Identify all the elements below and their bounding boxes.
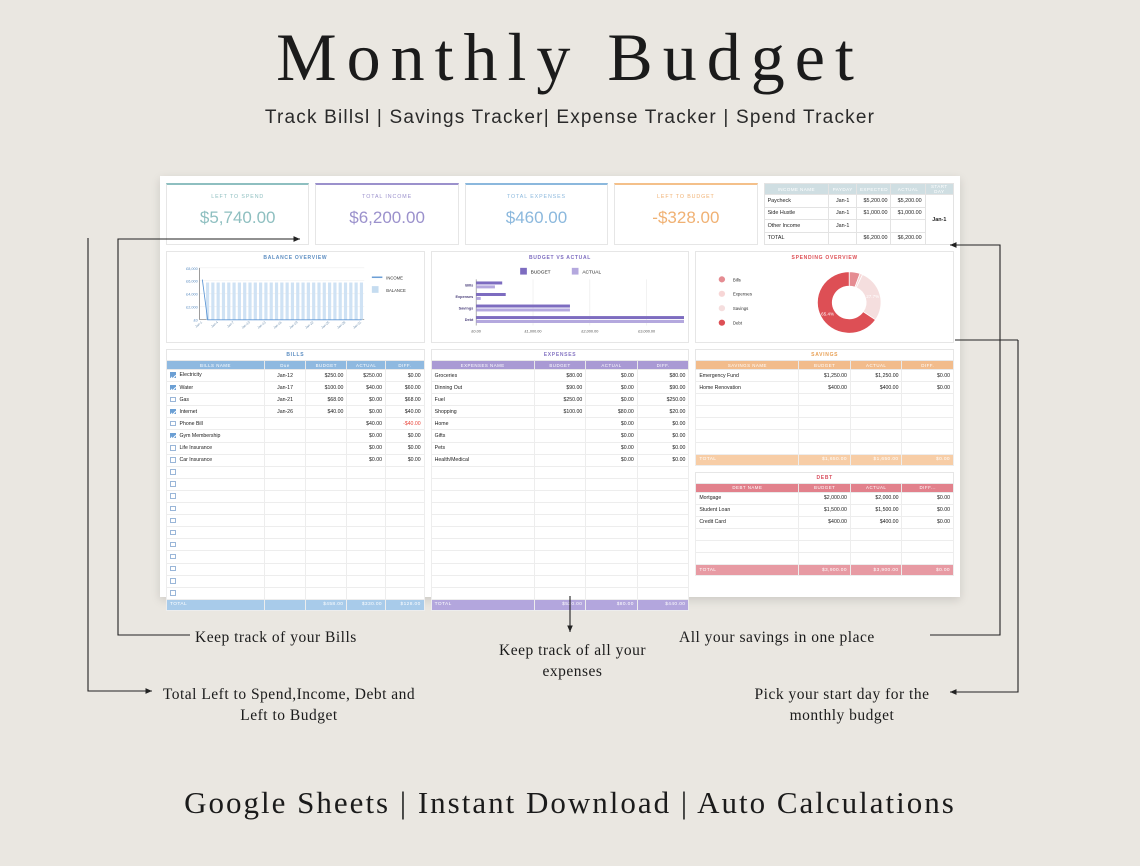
row-due: Jan-21 (264, 394, 305, 406)
debt-table[interactable]: DEBTDEBT NAMEBUDGETACTUALDIFF...Mortgage… (695, 472, 954, 577)
spending-overview-chart[interactable]: SPENDING OVERVIEW 27.7%65.4%BillsExpense… (695, 251, 954, 343)
svg-text:Jan-16: Jan-16 (272, 320, 282, 330)
page-header: Monthly Budget Track Billsl | Savings Tr… (0, 0, 1140, 129)
budget-vs-actual-chart[interactable]: BUDGET VS ACTUAL £0.00£1,000.00£2,000.00… (431, 251, 690, 343)
total-budget: $3,900.00 (799, 565, 851, 576)
kpi-label: LEFT TO BUDGET (615, 194, 756, 200)
row-budget: $250.00 (306, 370, 347, 382)
row-name (696, 541, 799, 553)
row-budget: $68.00 (306, 394, 347, 406)
income-actual (891, 220, 925, 232)
income-row[interactable]: PaycheckJan-1$5,200.00$5,200.00Jan-1 (764, 195, 953, 207)
income-payday (828, 232, 856, 244)
row-due (264, 418, 305, 430)
row-budget (534, 454, 586, 466)
row-name (696, 442, 799, 454)
column-header: ACTUAL (586, 361, 638, 370)
income-col-header: START DAY (925, 184, 953, 195)
table-row[interactable]: Groceries$80.00$0.00$80.00 (431, 370, 689, 382)
row-budget: $100.00 (534, 406, 586, 418)
total-actual: $80.00 (586, 599, 638, 610)
table-row-empty[interactable] (167, 527, 425, 539)
row-name[interactable]: Life Insurance (167, 442, 265, 454)
row-name[interactable] (167, 527, 265, 539)
row-actual: $0.00 (586, 454, 638, 466)
income-col-header: EXPECTED (857, 184, 891, 195)
row-checkbox[interactable] (170, 530, 176, 536)
svg-text:Jan-22: Jan-22 (304, 320, 314, 330)
income-actual: $6,200.00 (891, 232, 925, 244)
table-row-empty[interactable] (167, 539, 425, 551)
row-name: Credit Card (696, 516, 799, 528)
row-checkbox[interactable] (170, 566, 176, 572)
tables-row: BILLSBILLS NAMEDueBUDGETACTUALDIFF.Elect… (166, 349, 954, 611)
row-actual: $80.00 (586, 406, 638, 418)
table-caption: EXPENSES (431, 349, 690, 360)
svg-text:Bills: Bills (465, 284, 473, 288)
table-row-empty[interactable] (431, 575, 689, 587)
svg-text:£4,000: £4,000 (186, 293, 198, 297)
table-row-empty[interactable] (696, 541, 954, 553)
row-budget (534, 418, 586, 430)
row-name (696, 394, 799, 406)
row-name (696, 406, 799, 418)
income-expected: $1,000.00 (857, 207, 891, 219)
table-row[interactable]: Shopping$100.00$80.00$20.00 (431, 406, 689, 418)
row-budget: $1,250.00 (799, 370, 851, 382)
row-checkbox[interactable] (170, 493, 176, 499)
table-row[interactable]: Pets$0.00$0.00 (431, 442, 689, 454)
row-actual: $0.00 (586, 394, 638, 406)
kpi-card-left-to-spend[interactable]: LEFT TO SPEND $5,740.00 (166, 183, 309, 245)
row-name[interactable] (167, 587, 265, 599)
row-name[interactable]: Gas (167, 394, 265, 406)
row-diff: $68.00 (386, 394, 425, 406)
row-name[interactable] (167, 563, 265, 575)
svg-text:£0.00: £0.00 (471, 329, 481, 333)
row-budget: $100.00 (306, 382, 347, 394)
callout-startday: Pick your start day for the monthly budg… (752, 685, 932, 727)
balance-overview-chart[interactable]: BALANCE OVERVIEW £0£2,000£4,000£6,000£8,… (166, 251, 425, 343)
row-budget (306, 418, 347, 430)
row-budget (306, 430, 347, 442)
svg-text:Jan-19: Jan-19 (288, 320, 298, 330)
row-actual: $0.00 (586, 382, 638, 394)
row-checkbox[interactable] (170, 397, 176, 403)
svg-text:Jan-10: Jan-10 (241, 320, 251, 330)
table-row-empty[interactable] (167, 515, 425, 527)
table-row[interactable]: WaterJan-17$100.00$40.00$60.00 (167, 382, 425, 394)
income-col-header: PAYDAY (828, 184, 856, 195)
row-checkbox[interactable] (170, 372, 176, 378)
income-payday: Jan-1 (828, 195, 856, 207)
svg-text:Jan-31: Jan-31 (352, 320, 362, 330)
income-name: Other Income (764, 220, 828, 232)
row-checkbox[interactable] (170, 554, 176, 560)
table-row[interactable]: Emergency Fund$1,250.00$1,250.00$0.00 (696, 370, 954, 382)
row-diff: $0.00 (902, 492, 954, 504)
table-row[interactable]: Phone Bill$40.00-$40.00 (167, 418, 425, 430)
table-row[interactable]: Home Renovation$400.00$400.00$0.00 (696, 382, 954, 394)
kpi-value: $5,740.00 (167, 208, 308, 228)
row-checkbox[interactable] (170, 421, 176, 427)
table-row[interactable]: Home$0.00$0.00 (431, 418, 689, 430)
row-name (431, 478, 534, 490)
svg-text:BALANCE: BALANCE (386, 288, 406, 293)
svg-text:Jan-7: Jan-7 (226, 320, 235, 328)
row-due: Jan-12 (264, 370, 305, 382)
table-row-empty[interactable] (431, 587, 689, 599)
row-budget: $2,000.00 (799, 492, 851, 504)
svg-text:Savings: Savings (733, 306, 749, 311)
table-row-empty[interactable] (431, 490, 689, 502)
income-actual: $5,200.00 (891, 195, 925, 207)
column-header: SAVINGS NAME (696, 361, 799, 370)
table-row-empty[interactable] (696, 553, 954, 565)
row-diff: $20.00 (637, 406, 689, 418)
row-name (431, 587, 534, 599)
row-name[interactable] (167, 515, 265, 527)
row-checkbox[interactable] (170, 578, 176, 584)
row-checkbox[interactable] (170, 385, 176, 391)
svg-text:ACTUAL: ACTUAL (582, 270, 601, 276)
callout-totals: Total Left to Spend,Income, Debt and Lef… (158, 685, 420, 727)
row-name: Fuel (431, 394, 534, 406)
column-header: BUDGET (534, 361, 586, 370)
row-diff: $0.00 (902, 516, 954, 528)
row-name: Home (431, 418, 534, 430)
page-subtitle: Track Billsl | Savings Tracker| Expense … (0, 107, 1140, 129)
row-diff: $0.00 (902, 504, 954, 516)
row-diff: $0.00 (386, 370, 425, 382)
income-expected: $6,200.00 (857, 232, 891, 244)
row-checkbox[interactable] (170, 542, 176, 548)
row-due: Jan-26 (264, 406, 305, 418)
svg-text:BUDGET: BUDGET (530, 270, 550, 276)
kpi-row: LEFT TO SPEND $5,740.00 TOTAL INCOME $6,… (166, 183, 954, 245)
table-row-empty[interactable] (167, 563, 425, 575)
kpi-card-total-expenses[interactable]: TOTAL EXPENSES $460.00 (465, 183, 608, 245)
row-checkbox[interactable] (170, 590, 176, 596)
start-day-cell[interactable]: Jan-1 (925, 195, 953, 245)
total-label: TOTAL (696, 454, 799, 465)
row-name: Dinning Out (431, 382, 534, 394)
row-name (431, 551, 534, 563)
row-name (431, 575, 534, 587)
row-budget: $250.00 (534, 394, 586, 406)
kpi-value: $460.00 (466, 208, 607, 228)
row-name (431, 503, 534, 515)
kpi-card-left-to-budget[interactable]: LEFT TO BUDGET -$328.00 (614, 183, 757, 245)
table-row-empty[interactable] (696, 418, 954, 430)
row-diff: $0.00 (386, 442, 425, 454)
kpi-value: -$328.00 (615, 208, 756, 228)
table-row[interactable]: Gym Membership$0.00$0.00 (167, 430, 425, 442)
row-diff: $0.00 (637, 418, 689, 430)
svg-text:Bills: Bills (733, 277, 741, 282)
total-diff: $0.00 (902, 565, 954, 576)
column-header: BUDGET (799, 361, 851, 370)
kpi-label: TOTAL INCOME (316, 194, 457, 200)
row-name[interactable]: Water (167, 382, 265, 394)
column-header: BUDGET (799, 483, 851, 492)
kpi-card-total-income[interactable]: TOTAL INCOME $6,200.00 (315, 183, 458, 245)
svg-text:Expenses: Expenses (455, 295, 473, 299)
table-row-empty[interactable] (167, 490, 425, 502)
table-total-row: TOTAL$1,650.00$1,650.00$0.00 (696, 454, 954, 465)
row-name: Home Renovation (696, 382, 799, 394)
table-row-empty[interactable] (167, 466, 425, 478)
income-table[interactable]: INCOME NAMEPAYDAYEXPECTEDACTUALSTART DAY… (764, 183, 954, 245)
row-name[interactable]: Internet (167, 406, 265, 418)
row-due: Jan-17 (264, 382, 305, 394)
table-row[interactable]: Car Insurance$0.00$0.00 (167, 454, 425, 466)
table-row[interactable]: Student Loan$1,500.00$1,500.00$0.00 (696, 504, 954, 516)
column-header: Due (264, 361, 305, 370)
row-diff: $250.00 (637, 394, 689, 406)
column-header: ACTUAL (347, 361, 386, 370)
total-label: TOTAL (431, 599, 534, 610)
table-row[interactable]: Fuel$250.00$0.00$250.00 (431, 394, 689, 406)
row-name: Gifts (431, 430, 534, 442)
chart-title: BALANCE OVERVIEW (167, 255, 424, 261)
table-row-empty[interactable] (431, 515, 689, 527)
column-header: DIFF. (386, 361, 425, 370)
row-actual: $400.00 (850, 516, 902, 528)
row-actual: $0.00 (347, 406, 386, 418)
svg-text:Jan-25: Jan-25 (320, 320, 330, 330)
table-row-empty[interactable] (696, 528, 954, 540)
table-row[interactable]: Credit Card$400.00$400.00$0.00 (696, 516, 954, 528)
table-caption: DEBT (695, 472, 954, 483)
table-row-empty[interactable] (431, 539, 689, 551)
row-diff: $90.00 (637, 382, 689, 394)
callout-savings: All your savings in one place (679, 628, 875, 649)
callout-line-totals-v (88, 238, 150, 691)
svg-text:Debt: Debt (464, 318, 473, 322)
table-row-empty[interactable] (167, 551, 425, 563)
row-actual: $0.00 (586, 370, 638, 382)
table-row[interactable]: Gifts$0.00$0.00 (431, 430, 689, 442)
row-actual: $40.00 (347, 382, 386, 394)
svg-text:£2,000.00: £2,000.00 (581, 329, 598, 333)
column-header: EXPENSES NAME (431, 361, 534, 370)
row-diff: $0.00 (902, 370, 954, 382)
row-actual: $40.00 (347, 418, 386, 430)
callout-expenses: Keep track of all your expenses (485, 641, 660, 683)
svg-text:Jan-28: Jan-28 (336, 320, 346, 330)
table-row-empty[interactable] (431, 466, 689, 478)
row-actual: $0.00 (586, 430, 638, 442)
page-footer: Google Sheets | Instant Download | Auto … (0, 785, 1140, 821)
total-budget: $1,650.00 (799, 454, 851, 465)
row-name[interactable]: Gym Membership (167, 430, 265, 442)
row-actual: $0.00 (347, 442, 386, 454)
row-checkbox[interactable] (170, 469, 176, 475)
table-row-empty[interactable] (696, 442, 954, 454)
row-name (696, 528, 799, 540)
row-actual: $0.00 (586, 418, 638, 430)
column-header: ACTUAL (850, 483, 902, 492)
row-name[interactable] (167, 503, 265, 515)
row-checkbox[interactable] (170, 518, 176, 524)
kpi-value: $6,200.00 (316, 208, 457, 228)
total-budget: $458.00 (306, 599, 347, 610)
svg-text:27.7%: 27.7% (867, 294, 880, 299)
row-name[interactable] (167, 551, 265, 563)
expenses-table[interactable]: EXPENSESEXPENSES NAMEBUDGETACTUALDIFF.Gr… (431, 349, 690, 611)
row-budget: $40.00 (306, 406, 347, 418)
total-diff: $128.00 (386, 599, 425, 610)
total-label: TOTAL (696, 565, 799, 576)
table-row-empty[interactable] (696, 406, 954, 418)
row-name: Mortgage (696, 492, 799, 504)
kpi-label: TOTAL EXPENSES (466, 194, 607, 200)
total-actual: $1,650.00 (850, 454, 902, 465)
row-diff: -$40.00 (386, 418, 425, 430)
table-row[interactable]: Mortgage$2,000.00$2,000.00$0.00 (696, 492, 954, 504)
kpi-label: LEFT TO SPEND (167, 194, 308, 200)
row-actual: $2,000.00 (850, 492, 902, 504)
row-name (696, 553, 799, 565)
chart-title: BUDGET VS ACTUAL (432, 255, 689, 261)
table-row-empty[interactable] (167, 587, 425, 599)
table-caption: BILLS (166, 349, 425, 360)
row-name (431, 563, 534, 575)
bills-table[interactable]: BILLSBILLS NAMEDueBUDGETACTUALDIFF.Elect… (166, 349, 425, 611)
row-name (431, 539, 534, 551)
row-checkbox[interactable] (170, 433, 176, 439)
table-row[interactable]: InternetJan-26$40.00$0.00$40.00 (167, 406, 425, 418)
table-caption: SAVINGS (695, 349, 954, 360)
total-label: TOTAL (167, 599, 265, 610)
table-row-empty[interactable] (431, 527, 689, 539)
column-header: DEBT NAME (696, 483, 799, 492)
row-diff: $40.00 (386, 406, 425, 418)
row-budget: $400.00 (799, 382, 851, 394)
income-payday: Jan-1 (828, 207, 856, 219)
total-actual: $3,900.00 (850, 565, 902, 576)
row-diff: $0.00 (902, 382, 954, 394)
total-diff: $0.00 (902, 454, 954, 465)
income-expected: $5,200.00 (857, 195, 891, 207)
svg-text:Jan-13: Jan-13 (257, 320, 267, 330)
row-name[interactable] (167, 466, 265, 478)
row-name: Student Loan (696, 504, 799, 516)
table-row-empty[interactable] (431, 478, 689, 490)
row-name[interactable] (167, 478, 265, 490)
row-name[interactable]: Phone Bill (167, 418, 265, 430)
row-name (431, 490, 534, 502)
svg-text:Debt: Debt (733, 321, 743, 326)
spreadsheet-panel: LEFT TO SPEND $5,740.00 TOTAL INCOME $6,… (160, 176, 960, 597)
column-header: DIFF. (637, 361, 689, 370)
row-checkbox[interactable] (170, 481, 176, 487)
row-diff: $80.00 (637, 370, 689, 382)
table-row-empty[interactable] (167, 478, 425, 490)
table-row[interactable]: Dinning Out$90.00$0.00$90.00 (431, 382, 689, 394)
table-row[interactable]: Life Insurance$0.00$0.00 (167, 442, 425, 454)
row-name[interactable] (167, 490, 265, 502)
page-title: Monthly Budget (0, 22, 1140, 93)
row-checkbox[interactable] (170, 409, 176, 415)
row-actual: $1,250.00 (850, 370, 902, 382)
row-diff: $60.00 (386, 382, 425, 394)
row-name[interactable] (167, 539, 265, 551)
row-actual: $1,500.00 (850, 504, 902, 516)
column-header: BUDGET (306, 361, 347, 370)
row-actual: $0.00 (347, 454, 386, 466)
row-budget: $400.00 (799, 516, 851, 528)
svg-text:£2,000: £2,000 (186, 306, 198, 310)
callout-line-startday (950, 340, 1018, 692)
table-row-empty[interactable] (696, 430, 954, 442)
row-name[interactable] (167, 575, 265, 587)
row-checkbox[interactable] (170, 457, 176, 463)
table-row[interactable]: ElectricityJan-12$250.00$250.00$0.00 (167, 370, 425, 382)
svg-text:£6,000: £6,000 (186, 280, 198, 284)
row-diff: $0.00 (386, 430, 425, 442)
row-name: Pets (431, 442, 534, 454)
svg-text:£8,000: £8,000 (186, 267, 198, 271)
table-row-empty[interactable] (431, 563, 689, 575)
row-name (696, 418, 799, 430)
row-due (264, 454, 305, 466)
row-checkbox[interactable] (170, 506, 176, 512)
row-name[interactable]: Car Insurance (167, 454, 265, 466)
income-name: TOTAL (764, 232, 828, 244)
row-diff: $0.00 (386, 454, 425, 466)
svg-text:Jan-4: Jan-4 (210, 320, 219, 328)
table-row[interactable]: GasJan-21$68.00$0.00$68.00 (167, 394, 425, 406)
column-header: DIFF... (902, 483, 954, 492)
row-budget (306, 442, 347, 454)
row-budget (534, 442, 586, 454)
row-name: Emergency Fund (696, 370, 799, 382)
row-diff: $0.00 (637, 430, 689, 442)
table-total-row: TOTAL$520.00$80.00$440.00 (431, 599, 689, 610)
table-total-row: TOTAL$458.00$330.00$128.00 (167, 599, 425, 610)
column-header: BILLS NAME (167, 361, 265, 370)
table-row-empty[interactable] (431, 551, 689, 563)
row-checkbox[interactable] (170, 445, 176, 451)
row-budget: $1,500.00 (799, 504, 851, 516)
table-row-empty[interactable] (167, 503, 425, 515)
total-budget: $520.00 (534, 599, 586, 610)
row-name (431, 466, 534, 478)
row-budget: $80.00 (534, 370, 586, 382)
row-name (431, 527, 534, 539)
row-due (264, 430, 305, 442)
table-row-empty[interactable] (431, 503, 689, 515)
svg-text:£3,000.00: £3,000.00 (638, 329, 655, 333)
table-row[interactable]: Health/Medical$0.00$0.00 (431, 454, 689, 466)
income-payday: Jan-1 (828, 220, 856, 232)
column-header: ACTUAL (850, 361, 902, 370)
row-actual: $400.00 (850, 382, 902, 394)
table-row-empty[interactable] (167, 575, 425, 587)
savings-table[interactable]: SAVINGSSAVINGS NAMEBUDGETACTUALDIFF.Emer… (695, 349, 954, 466)
svg-text:INCOME: INCOME (386, 275, 403, 280)
row-actual: $0.00 (347, 430, 386, 442)
row-name: Shopping (431, 406, 534, 418)
row-due (264, 442, 305, 454)
income-col-header: INCOME NAME (764, 184, 828, 195)
row-name[interactable]: Electricity (167, 370, 265, 382)
table-row-empty[interactable] (696, 394, 954, 406)
income-name: Paycheck (764, 195, 828, 207)
column-header: DIFF. (902, 361, 954, 370)
